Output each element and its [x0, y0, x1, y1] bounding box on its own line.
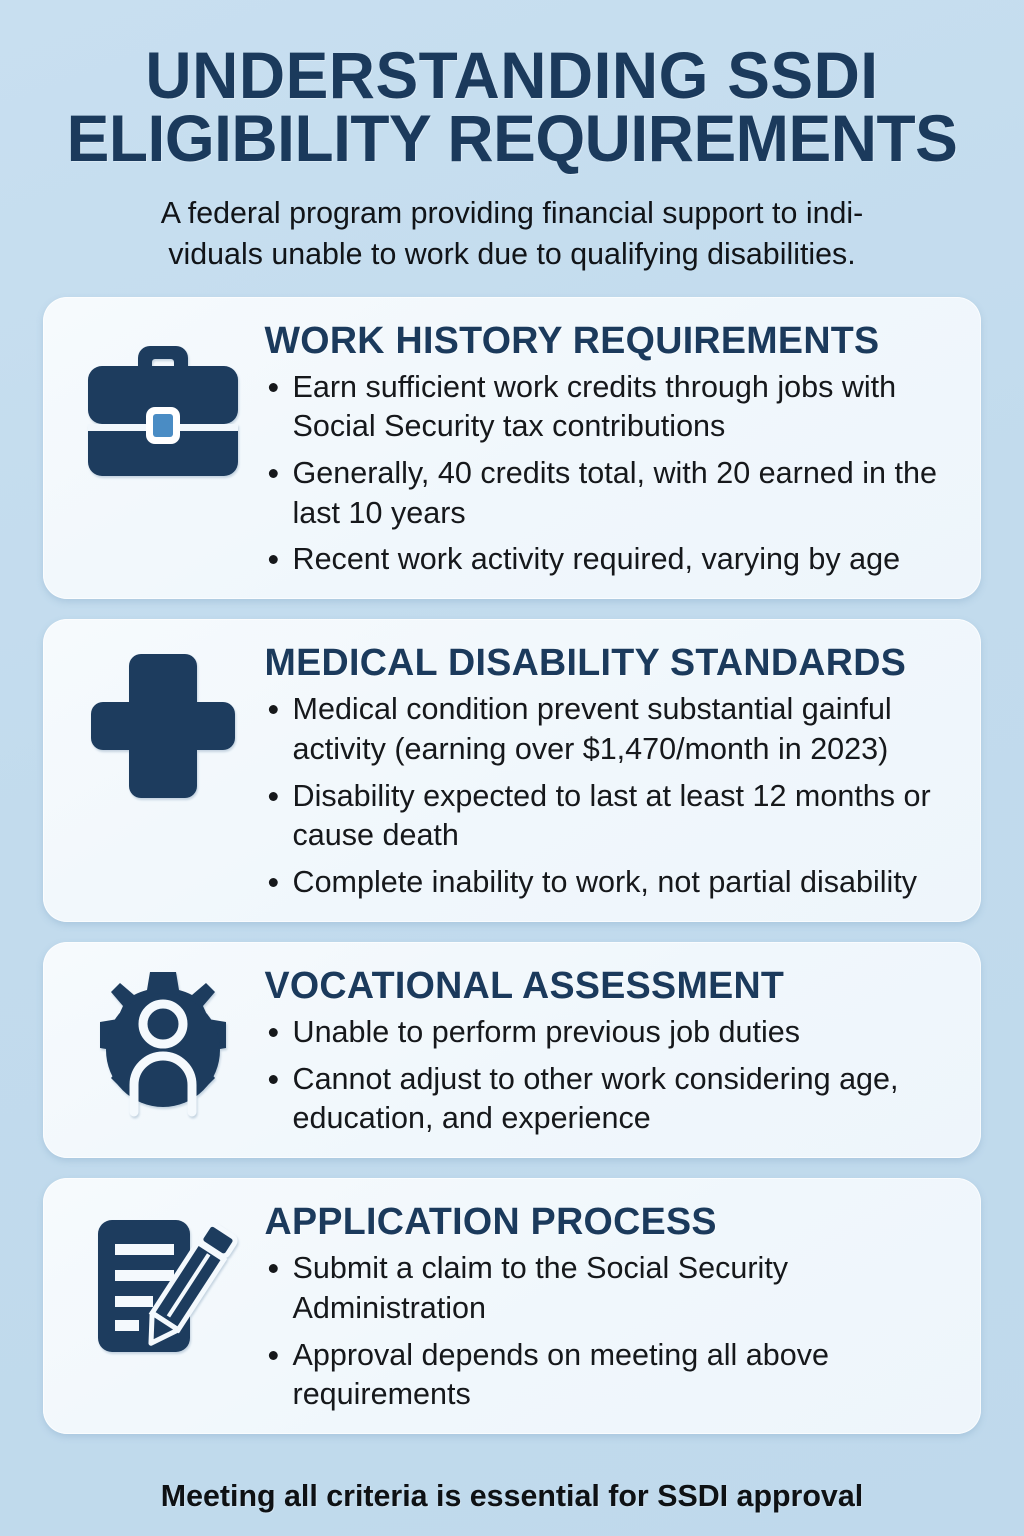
footer: Meeting all criteria is essential for SS…	[0, 1464, 1024, 1536]
briefcase-icon	[82, 330, 244, 480]
card-body: VOCATIONAL ASSESSMENT Unable to perform …	[261, 962, 961, 1138]
list-item: Generally, 40 credits total, with 20 ear…	[261, 453, 947, 532]
card-bullet-list: Medical condition prevent substantial ga…	[261, 689, 957, 901]
list-item: Approval depends on meeting all above re…	[261, 1335, 947, 1414]
list-item: Recent work activity required, varying b…	[261, 539, 947, 579]
gear-person-icon	[83, 970, 243, 1130]
card-body: MEDICAL DISABILITY STANDARDS Medical con…	[261, 639, 961, 902]
card-icon-wrapper	[65, 1198, 261, 1368]
card-icon-wrapper	[65, 962, 261, 1132]
medical-cross-icon	[89, 652, 237, 802]
list-item: Cannot adjust to other work considering …	[261, 1059, 947, 1138]
card-work-history: WORK HISTORY REQUIREMENTS Earn sufficien…	[43, 297, 981, 600]
card-bullet-list: Submit a claim to the Social Security Ad…	[261, 1248, 957, 1414]
list-item: Complete inability to work, not partial …	[261, 862, 947, 902]
card-icon-wrapper	[65, 639, 261, 809]
infographic-page: UNDERSTANDING SSDI ELIGIBILITY REQUIREME…	[0, 0, 1024, 1536]
page-subtitle: A federal program providing financial su…	[40, 193, 985, 275]
card-application-process: APPLICATION PROCESS Submit a claim to th…	[43, 1178, 981, 1434]
list-item: Earn sufficient work credits through job…	[261, 367, 947, 446]
list-item: Disability expected to last at least 12 …	[261, 776, 947, 855]
document-pencil-icon	[88, 1216, 238, 1356]
card-bullet-list: Unable to perform previous job duties Ca…	[261, 1012, 957, 1138]
card-body: WORK HISTORY REQUIREMENTS Earn sufficien…	[261, 317, 961, 580]
footer-text: Meeting all criteria is essential for SS…	[10, 1478, 1014, 1514]
card-body: APPLICATION PROCESS Submit a claim to th…	[261, 1198, 961, 1414]
card-vocational-assessment: VOCATIONAL ASSESSMENT Unable to perform …	[43, 942, 981, 1158]
page-subtitle-line-1: A federal program providing financial su…	[40, 193, 985, 234]
header: UNDERSTANDING SSDI ELIGIBILITY REQUIREME…	[0, 0, 1024, 275]
card-heading: APPLICATION PROCESS	[264, 1202, 953, 1242]
card-bullet-list: Earn sufficient work credits through job…	[261, 367, 957, 579]
page-subtitle-line-2: viduals unable to work due to qualifying…	[40, 234, 985, 275]
list-item: Medical condition prevent substantial ga…	[261, 689, 947, 768]
list-item: Unable to perform previous job duties	[261, 1012, 947, 1052]
card-heading: VOCATIONAL ASSESSMENT	[264, 966, 953, 1006]
card-icon-wrapper	[65, 317, 261, 487]
list-item: Submit a claim to the Social Security Ad…	[261, 1248, 947, 1327]
page-title: UNDERSTANDING SSDI ELIGIBILITY REQUIREME…	[44, 44, 979, 171]
requirement-cards: WORK HISTORY REQUIREMENTS Earn sufficien…	[0, 297, 1024, 1434]
card-heading: WORK HISTORY REQUIREMENTS	[264, 321, 953, 361]
page-title-line-2: ELIGIBILITY REQUIREMENTS	[44, 107, 979, 170]
card-heading: MEDICAL DISABILITY STANDARDS	[264, 643, 953, 683]
card-medical-disability: MEDICAL DISABILITY STANDARDS Medical con…	[43, 619, 981, 922]
